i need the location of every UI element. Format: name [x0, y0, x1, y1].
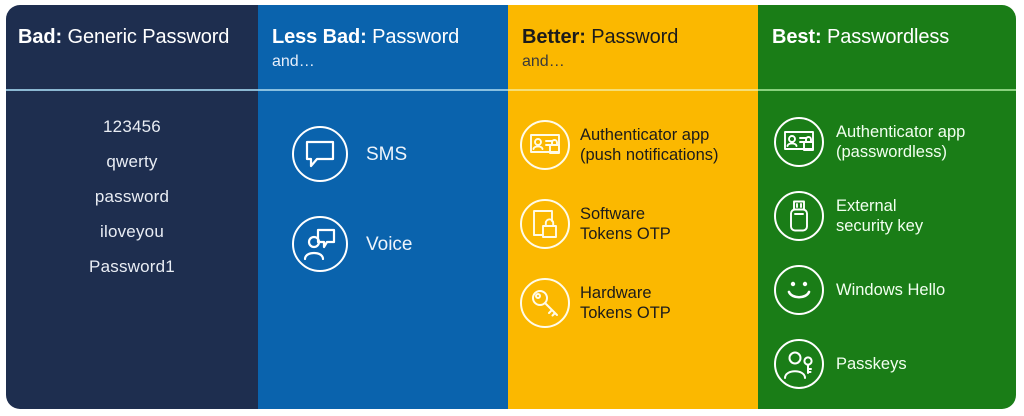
list-item: iloveyou — [6, 214, 258, 249]
column-bad-rank: Bad: — [18, 26, 62, 48]
column-better-rank: Better: — [522, 26, 586, 48]
column-best-header: Best: Passwordless — [758, 5, 1016, 90]
list-item: Windows Hello — [774, 253, 1016, 327]
person-speech-bubble-icon — [292, 216, 348, 272]
column-better-items: Authenticator app (push notifications) S… — [508, 105, 758, 342]
column-less-bad-subtitle: and… — [272, 51, 494, 72]
list-item: password — [6, 179, 258, 214]
list-item-label: Software Tokens OTP — [580, 204, 671, 244]
column-bad: Bad: Generic Password 123456 qwerty pass… — [6, 5, 258, 409]
column-less-bad: Less Bad: Password and… SMS — [258, 5, 508, 409]
column-best-title: Best: Passwordless — [772, 25, 1002, 50]
usb-security-key-icon — [774, 191, 824, 241]
column-less-bad-title: Less Bad: Password — [272, 25, 494, 50]
column-bad-title-text: Generic Password — [62, 26, 229, 48]
column-less-bad-items: SMS Voice — [258, 109, 508, 289]
column-better: Better: Password and… — [508, 5, 758, 409]
list-item: Software Tokens OTP — [520, 184, 758, 263]
list-item: 123456 — [6, 109, 258, 144]
column-bad-title: Bad: Generic Password — [18, 25, 244, 50]
column-best-divider — [758, 89, 1016, 91]
list-item-label: SMS — [366, 144, 407, 165]
id-badge-lock-icon — [520, 120, 570, 170]
columns-container: Bad: Generic Password 123456 qwerty pass… — [6, 5, 1016, 409]
column-bad-header: Bad: Generic Password — [6, 5, 258, 90]
column-less-bad-title-text: Password — [367, 26, 459, 48]
list-item: Voice — [292, 199, 508, 289]
list-item: Passkeys — [774, 327, 1016, 401]
list-item-label: Passkeys — [836, 354, 907, 374]
column-less-bad-rank: Less Bad: — [272, 26, 367, 48]
speech-bubble-icon — [292, 126, 348, 182]
column-bad-divider — [6, 89, 258, 91]
list-item: SMS — [292, 109, 508, 199]
column-best-rank: Best: — [772, 26, 822, 48]
column-best: Best: Passwordless — [758, 5, 1016, 409]
list-item-label: External security key — [836, 196, 923, 236]
smiley-face-icon — [774, 265, 824, 315]
list-item: External security key — [774, 179, 1016, 253]
id-badge-lock-icon — [774, 117, 824, 167]
column-better-divider — [508, 89, 758, 91]
phone-lock-icon — [520, 199, 570, 249]
column-best-items: Authenticator app (passwordless) Externa… — [758, 105, 1016, 401]
list-item-label: Windows Hello — [836, 280, 945, 300]
list-item: Password1 — [6, 249, 258, 284]
list-item: Authenticator app (passwordless) — [774, 105, 1016, 179]
column-best-title-text: Passwordless — [822, 26, 950, 48]
column-better-title-text: Password — [586, 26, 678, 48]
column-less-bad-header: Less Bad: Password and… — [258, 5, 508, 90]
column-better-subtitle: and… — [522, 51, 744, 72]
column-less-bad-divider — [258, 89, 508, 91]
list-item: Hardware Tokens OTP — [520, 263, 758, 342]
list-item: Authenticator app (push notifications) — [520, 105, 758, 184]
list-item-label: Voice — [366, 234, 412, 255]
key-icon — [520, 278, 570, 328]
list-item-label: Authenticator app (push notifications) — [580, 125, 719, 165]
list-item: qwerty — [6, 144, 258, 179]
person-key-icon — [774, 339, 824, 389]
authentication-strength-chart: Bad: Generic Password 123456 qwerty pass… — [0, 0, 1024, 416]
common-password-list: 123456 qwerty password iloveyou Password… — [6, 109, 258, 284]
column-better-header: Better: Password and… — [508, 5, 758, 90]
list-item-label: Authenticator app (passwordless) — [836, 122, 965, 162]
list-item-label: Hardware Tokens OTP — [580, 283, 671, 323]
column-better-title: Better: Password — [522, 25, 744, 50]
